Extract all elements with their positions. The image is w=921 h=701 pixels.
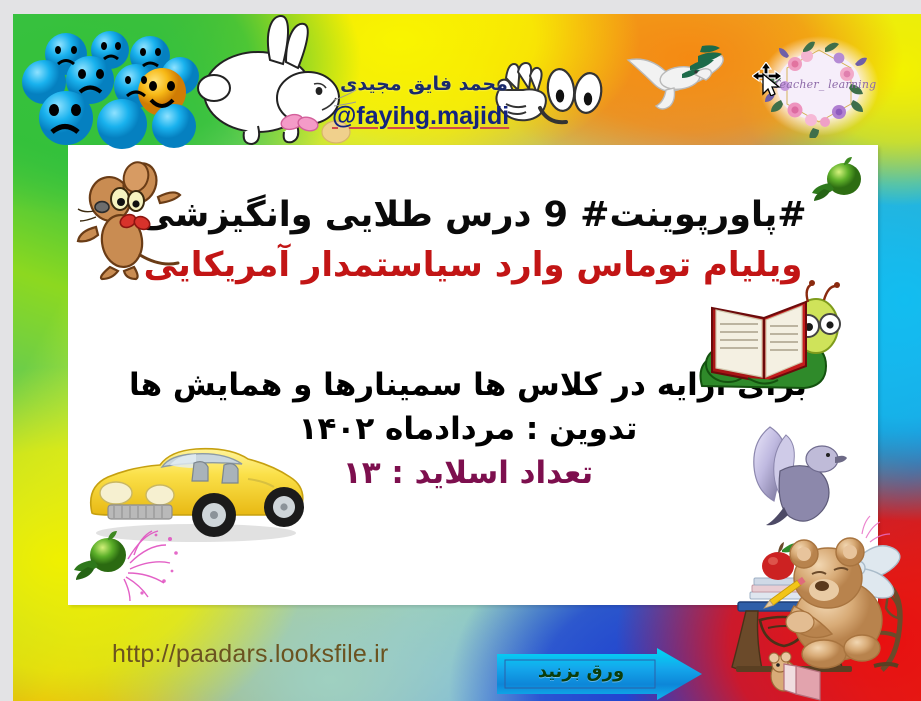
bookworm (688, 280, 850, 400)
slide-canvas: محمد فایق مجیدی @fayihg.majidi (0, 0, 921, 701)
move-cursor (752, 62, 786, 96)
dove-olive-branch (624, 38, 734, 116)
window-left-strip (0, 0, 13, 701)
teddy-bear-desk (716, 516, 921, 701)
title-line-1: #پاورپوینت# 9 درس طلایی وانگیزشی (68, 193, 878, 238)
cartoon-mouse (74, 155, 184, 280)
next-page-button[interactable]: ورق بزنید (497, 648, 702, 700)
cartoon-eyes-icon (536, 62, 608, 128)
flying-pigeon (740, 417, 858, 529)
smiley-faces-cluster (14, 20, 199, 140)
green-apple-sparkle (72, 527, 202, 603)
site-url[interactable]: http://paadars.looksfile.ir (112, 640, 388, 669)
author-handle[interactable]: @fayihg.majidi (332, 102, 509, 131)
author-name: محمد فایق مجیدی (340, 73, 508, 95)
next-page-label: ورق بزنید (497, 661, 665, 682)
window-top-strip (0, 0, 921, 14)
title-block: #پاورپوینت# 9 درس طلایی وانگیزشی ویلیام … (68, 193, 878, 287)
white-rabbit (186, 14, 356, 146)
green-apple-top (810, 157, 868, 207)
